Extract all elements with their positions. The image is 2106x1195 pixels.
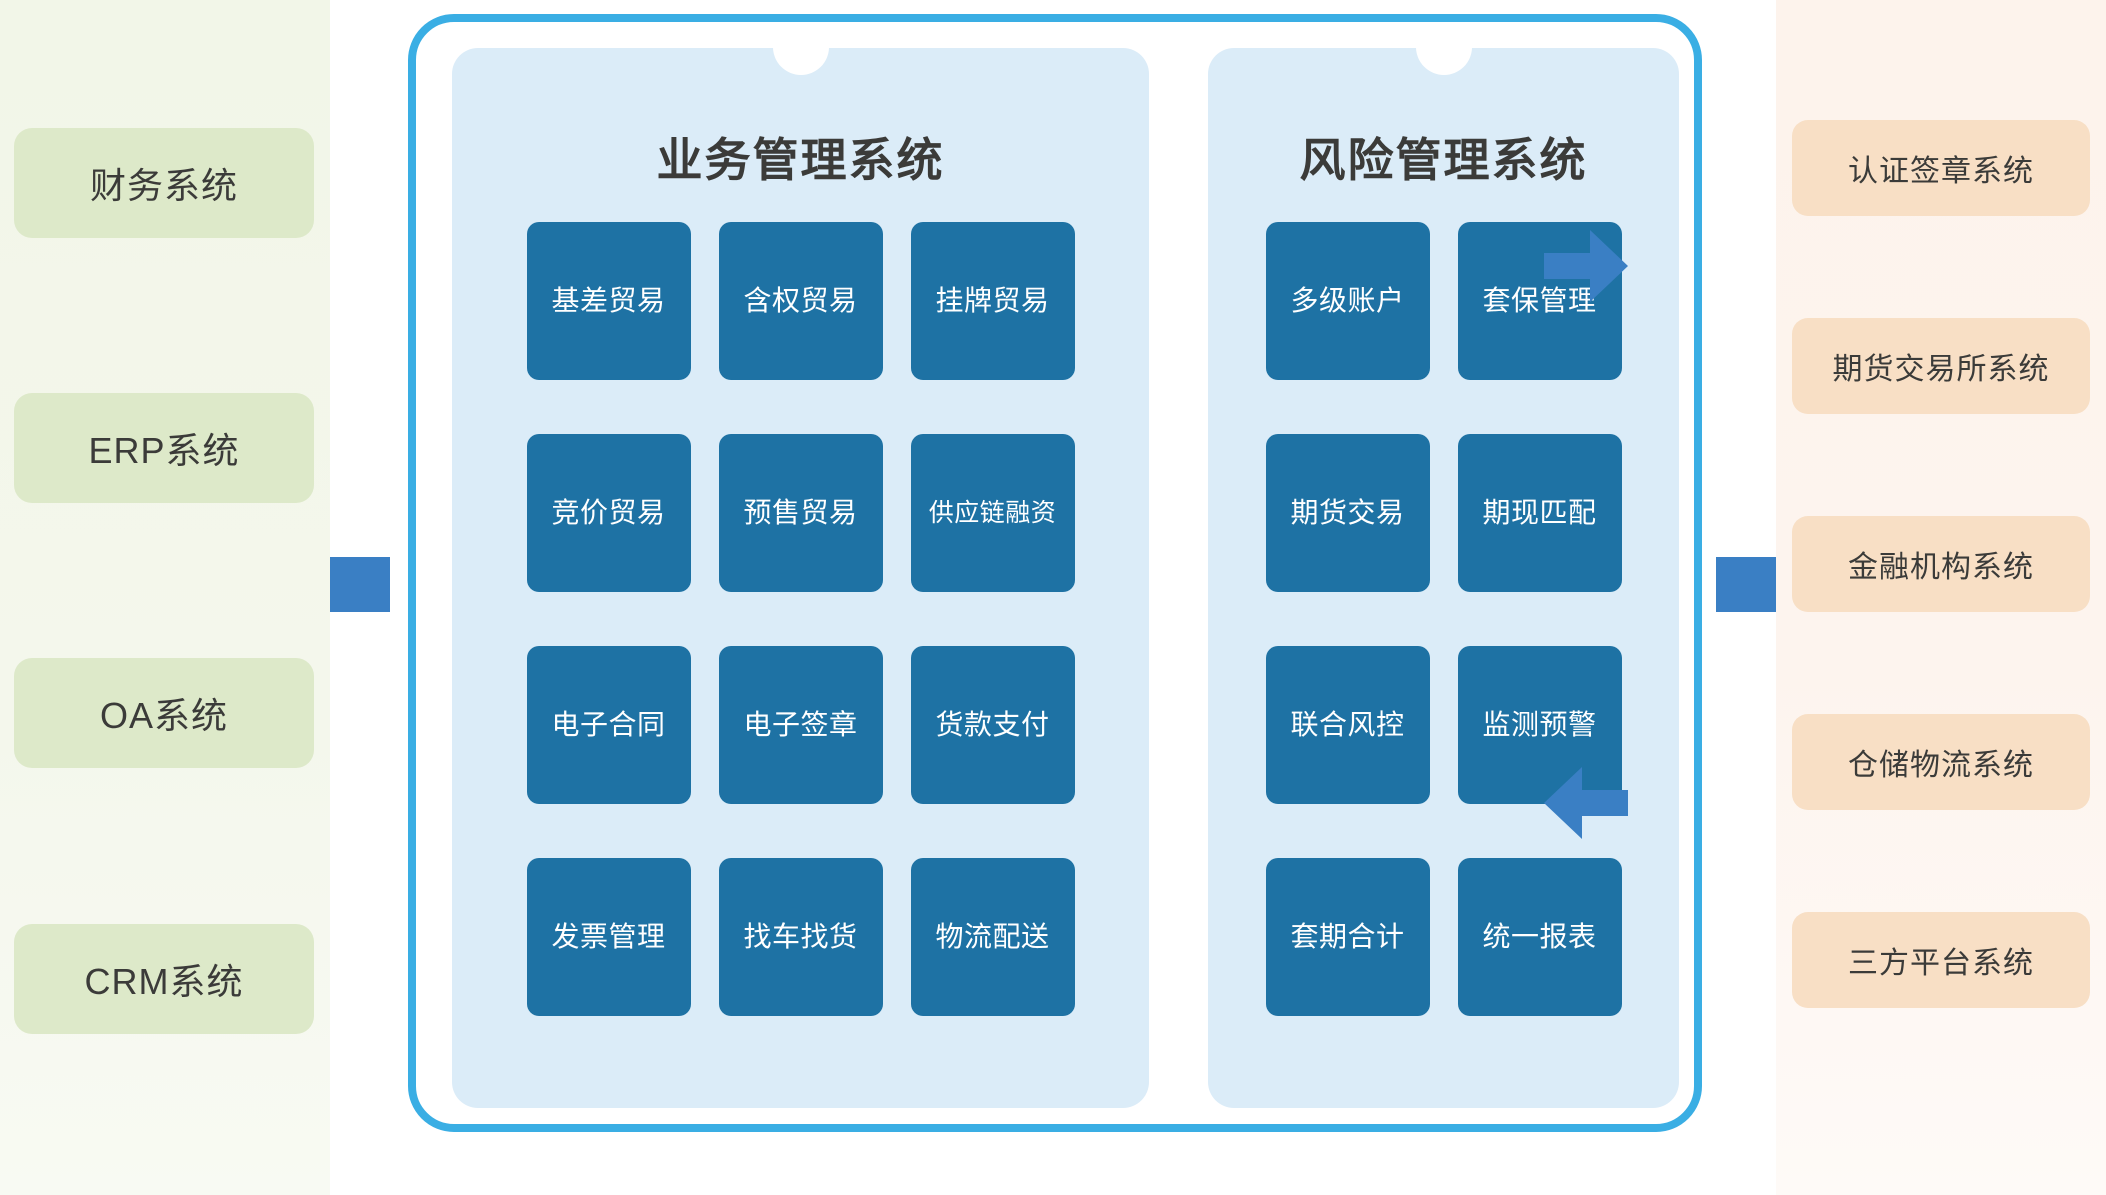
tile-label: 发票管理 (551, 921, 665, 953)
right-system-label-1: 期货交易所系统 (1833, 344, 2050, 388)
left-system-label-2: OA系统 (100, 687, 228, 739)
left-sidebar: 财务系统 ERP系统 OA系统 CRM系统 (0, 0, 330, 1195)
right-system-card-0[interactable]: 认证签章系统 (1792, 120, 2090, 216)
panel-title-business: 业务管理系统 (452, 124, 1149, 190)
diagram-canvas: 财务系统 ERP系统 OA系统 CRM系统 业务管理系统 基差贸易 含权贸易 挂… (0, 0, 2106, 1195)
tile-label: 含权贸易 (743, 285, 857, 317)
tile-business-9[interactable]: 发票管理 (527, 858, 691, 1016)
tile-business-1[interactable]: 含权贸易 (719, 222, 883, 380)
tile-business-8[interactable]: 货款支付 (911, 646, 1075, 804)
tile-grid-business: 基差贸易 含权贸易 挂牌贸易 竞价贸易 预售贸易 供应链融资 电子合同 电子签章… (452, 222, 1149, 1016)
platform-frame: 业务管理系统 基差贸易 含权贸易 挂牌贸易 竞价贸易 预售贸易 供应链融资 电子… (408, 14, 1702, 1132)
right-system-card-3[interactable]: 仓储物流系统 (1792, 714, 2090, 810)
tile-risk-6[interactable]: 套期合计 (1266, 858, 1430, 1016)
connector-right (1716, 557, 1776, 612)
arrow-business-to-risk-icon (1544, 227, 1628, 305)
left-system-label-0: 财务系统 (90, 157, 238, 209)
tile-risk-7[interactable]: 统一报表 (1458, 858, 1622, 1016)
tile-risk-3[interactable]: 期现匹配 (1458, 434, 1622, 592)
left-system-label-3: CRM系统 (85, 953, 244, 1005)
tile-risk-0[interactable]: 多级账户 (1266, 222, 1430, 380)
arrow-risk-to-business-icon (1544, 764, 1628, 842)
tile-business-6[interactable]: 电子合同 (527, 646, 691, 804)
tile-label: 期现匹配 (1482, 497, 1596, 529)
tile-label: 电子签章 (743, 709, 857, 741)
right-system-label-3: 仓储物流系统 (1848, 740, 2034, 784)
right-system-card-4[interactable]: 三方平台系统 (1792, 912, 2090, 1008)
left-system-card-0[interactable]: 财务系统 (14, 128, 314, 238)
tile-business-0[interactable]: 基差贸易 (527, 222, 691, 380)
right-system-label-2: 金融机构系统 (1848, 542, 2034, 586)
left-system-card-3[interactable]: CRM系统 (14, 924, 314, 1034)
tile-grid-risk: 多级账户 套保管理 期货交易 期现匹配 联合风控 监测预警 套期合计 统一报表 (1208, 222, 1679, 1016)
right-system-card-1[interactable]: 期货交易所系统 (1792, 318, 2090, 414)
tile-risk-2[interactable]: 期货交易 (1266, 434, 1430, 592)
tile-label: 供应链融资 (929, 499, 1057, 528)
tile-business-11[interactable]: 物流配送 (911, 858, 1075, 1016)
tile-label: 竞价贸易 (551, 497, 665, 529)
panel-notch-business (773, 47, 829, 75)
tile-label: 期货交易 (1290, 497, 1404, 529)
panel-business-management: 业务管理系统 基差贸易 含权贸易 挂牌贸易 竞价贸易 预售贸易 供应链融资 电子… (452, 48, 1149, 1108)
tile-business-4[interactable]: 预售贸易 (719, 434, 883, 592)
tile-label: 挂牌贸易 (935, 285, 1049, 317)
tile-label: 物流配送 (935, 921, 1049, 953)
tile-risk-4[interactable]: 联合风控 (1266, 646, 1430, 804)
tile-label: 货款支付 (935, 709, 1049, 741)
right-system-label-4: 三方平台系统 (1848, 938, 2034, 982)
right-system-label-0: 认证签章系统 (1848, 146, 2034, 190)
tile-label: 找车找货 (743, 921, 857, 953)
tile-label: 套期合计 (1290, 921, 1404, 953)
tile-business-5[interactable]: 供应链融资 (911, 434, 1075, 592)
tile-label: 电子合同 (551, 709, 665, 741)
panel-title-risk: 风险管理系统 (1208, 124, 1679, 190)
panel-risk-management: 风险管理系统 多级账户 套保管理 期货交易 期现匹配 联合风控 监测预警 套期合… (1208, 48, 1679, 1108)
tile-label: 联合风控 (1290, 709, 1404, 741)
tile-business-2[interactable]: 挂牌贸易 (911, 222, 1075, 380)
tile-label: 多级账户 (1290, 285, 1404, 317)
right-system-card-2[interactable]: 金融机构系统 (1792, 516, 2090, 612)
left-system-card-2[interactable]: OA系统 (14, 658, 314, 768)
tile-business-7[interactable]: 电子签章 (719, 646, 883, 804)
tile-label: 统一报表 (1482, 921, 1596, 953)
right-sidebar: 认证签章系统 期货交易所系统 金融机构系统 仓储物流系统 三方平台系统 (1776, 0, 2106, 1195)
tile-business-10[interactable]: 找车找货 (719, 858, 883, 1016)
tile-label: 基差贸易 (551, 285, 665, 317)
left-system-card-1[interactable]: ERP系统 (14, 393, 314, 503)
tile-business-3[interactable]: 竞价贸易 (527, 434, 691, 592)
left-system-label-1: ERP系统 (88, 422, 239, 474)
connector-left (330, 557, 390, 612)
tile-label: 监测预警 (1482, 709, 1596, 741)
tile-label: 预售贸易 (743, 497, 857, 529)
panel-notch-risk (1416, 47, 1472, 75)
